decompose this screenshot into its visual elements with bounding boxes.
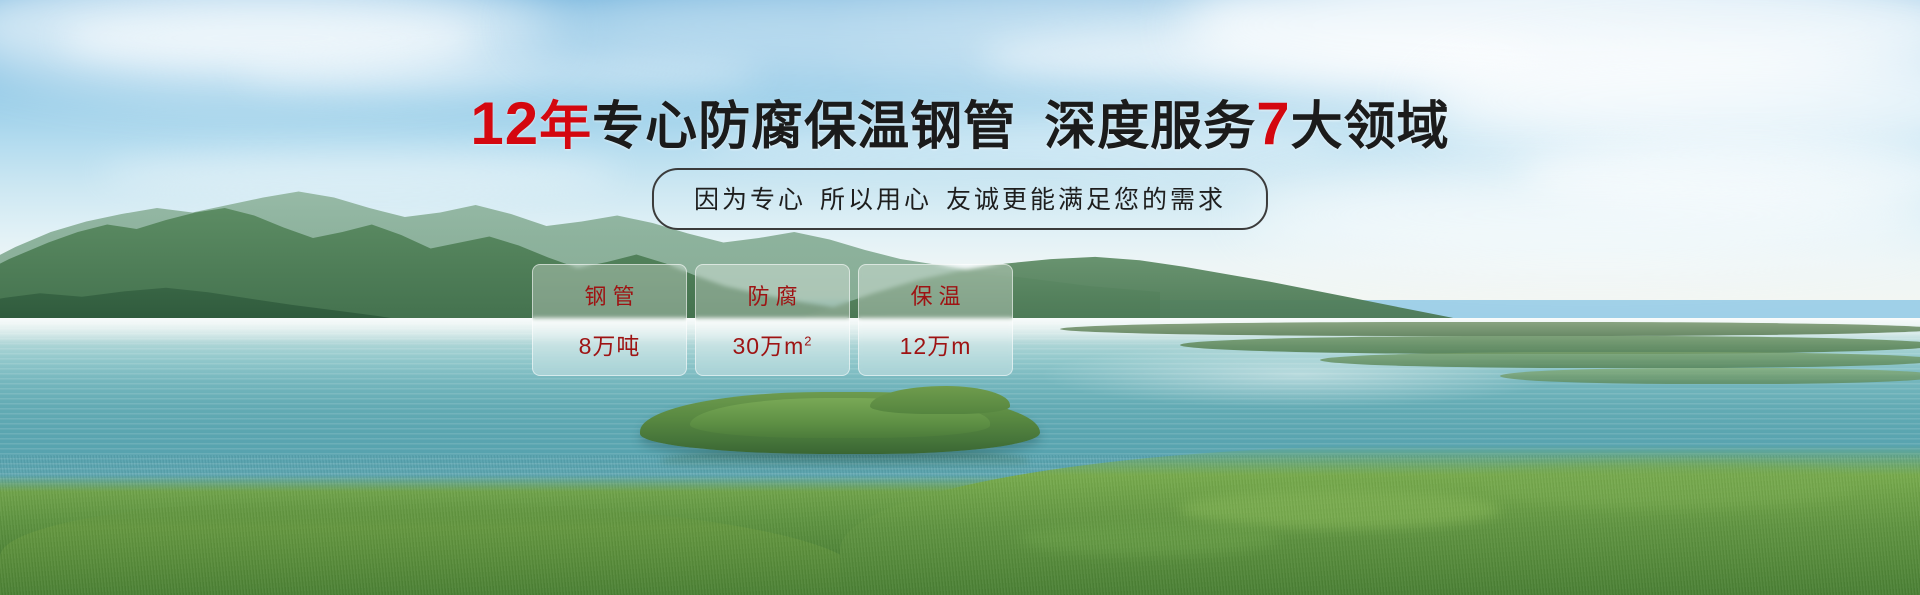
- stat-card-anticorrosion[interactable]: 防腐 30万m2: [695, 264, 850, 376]
- stat-card-value: 8万吨: [579, 327, 641, 361]
- far-shore-strip: [1500, 368, 1920, 384]
- cloud-shape: [1240, 170, 1920, 260]
- stat-card-label: 保温: [904, 279, 966, 311]
- stat-value-text: 30万m: [733, 333, 805, 359]
- stat-value-superscript: 2: [804, 333, 812, 348]
- headline-main-part3: 大领域: [1291, 98, 1450, 156]
- headline-main-part2: 深度服务: [1044, 98, 1256, 156]
- stat-value-text: 8万吨: [579, 333, 641, 359]
- stat-value-text: 12万m: [900, 333, 972, 359]
- stat-card-insulation[interactable]: 保温 12万m: [858, 264, 1013, 376]
- headline-main-part1: 专心防腐保温钢管: [592, 98, 1016, 156]
- stat-card-group: 钢管 8万吨 防腐 30万m2 保温 12万m: [532, 264, 1013, 376]
- grass-texture: [0, 455, 1920, 595]
- stat-card-label: 防腐: [741, 279, 803, 311]
- banner-headline: 12年专心防腐保温钢管深度服务7大领域: [0, 84, 1920, 159]
- stat-card-value: 12万m: [900, 327, 972, 361]
- subtitle-part-1: 因为专心: [694, 186, 806, 214]
- hero-banner: 12年专心防腐保温钢管深度服务7大领域 因为专心所以用心友诚更能满足您的需求 钢…: [0, 0, 1920, 595]
- subtitle-part-2: 所以用心: [820, 186, 932, 214]
- banner-subtitle-pill: 因为专心所以用心友诚更能满足您的需求: [652, 168, 1268, 230]
- far-shore-strip: [1060, 322, 1920, 336]
- stat-card-value: 30万m2: [733, 327, 813, 361]
- subtitle-part-3: 友诚更能满足您的需求: [946, 186, 1226, 214]
- stat-card-steel-pipe[interactable]: 钢管 8万吨: [532, 264, 687, 376]
- headline-fields-number: 7: [1256, 90, 1290, 157]
- far-shore-strip: [1320, 352, 1920, 368]
- stat-card-label: 钢管: [578, 279, 640, 311]
- headline-years-number: 12: [470, 90, 539, 157]
- headline-years-unit: 年: [539, 98, 592, 156]
